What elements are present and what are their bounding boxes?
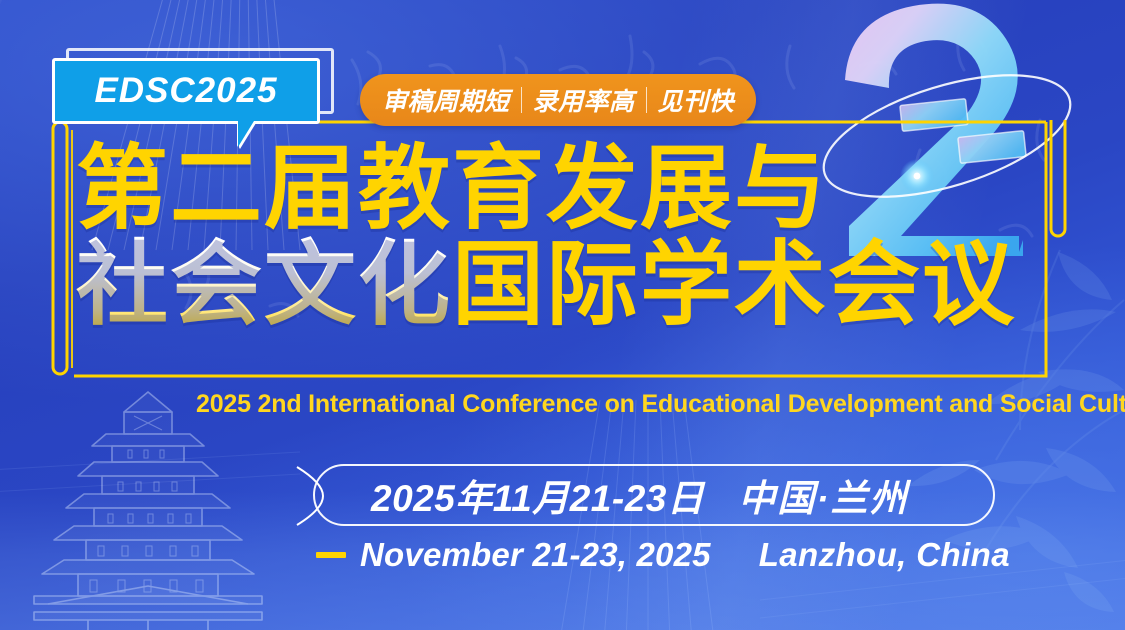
- page-title: 第二届教育发展与 社会文化国际学术会议: [76, 142, 1016, 333]
- date-cn: 2025年11月21-23日: [371, 468, 704, 522]
- title-line-2: 社会文化国际学术会议: [76, 238, 1016, 334]
- location-en: Lanzhou, China: [759, 536, 1010, 574]
- edsc-badge-tail-icon: [238, 121, 254, 147]
- english-subtitle: 2025 2nd International Conference on Edu…: [196, 390, 1125, 419]
- highlight-separator: [646, 87, 647, 113]
- title-line-1: 第二届教育发展与: [76, 142, 1016, 238]
- date-location-inner: 2025年11月21-23日 中国·兰州: [315, 468, 909, 522]
- conference-banner: EDSC2025 审稿周期短 录用率高 见刊快 第二届教育发展与 社会文化国际学…: [0, 0, 1125, 630]
- date-location-english-row: November 21-23, 2025 Lanzhou, China: [316, 536, 1010, 574]
- date-en: November 21-23, 2025: [360, 536, 711, 574]
- title-line-2-yellow: 国际学术会议: [452, 234, 1016, 336]
- highlights-pill[interactable]: 审稿周期短 录用率高 见刊快: [360, 74, 756, 126]
- highlight-item-2: 见刊快: [658, 82, 735, 118]
- edsc-badge-label: EDSC2025: [52, 58, 320, 124]
- left-bracket-icon: [291, 465, 335, 527]
- title-line-2-white: 社会文化: [76, 234, 452, 336]
- date-location-bar: 2025年11月21-23日 中国·兰州: [313, 464, 995, 526]
- location-cn: 中国·兰州: [738, 468, 908, 522]
- highlight-item-1: 录用率高: [533, 82, 635, 118]
- dash-icon: [316, 552, 346, 558]
- edsc-badge[interactable]: EDSC2025: [52, 58, 320, 124]
- highlight-separator: [521, 87, 522, 113]
- highlight-item-0: 审稿周期短: [382, 82, 510, 118]
- pagoda-illustration-icon: [28, 390, 268, 630]
